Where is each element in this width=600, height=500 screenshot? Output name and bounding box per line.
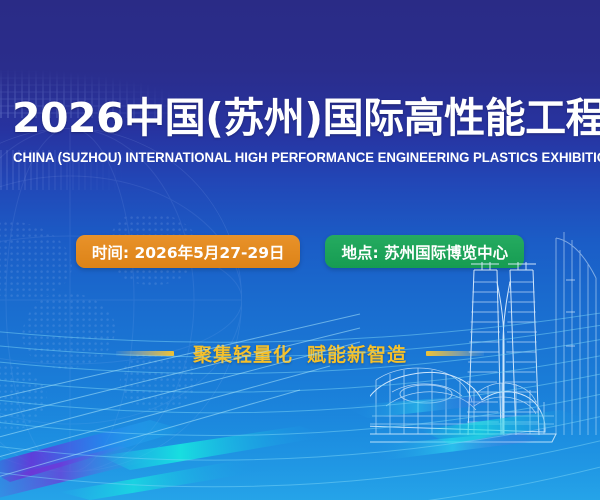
slogan-text: 聚集轻量化赋能新智造 [193,340,407,367]
light-ribbon-icon [0,270,600,500]
slogan-dash-right-icon [426,351,484,356]
slogan-part-1: 聚集轻量化 [193,344,293,366]
badge-venue: 地点: 苏州国际博览中心 [325,235,524,268]
expo-center-dome-icon [370,368,556,442]
info-badges: 时间: 2026年5月27-29日 地点: 苏州国际博览中心 [0,235,600,268]
page-subtitle-english: CHINA (SUZHOU) INTERNATIONAL HIGH PERFOR… [13,150,591,166]
headline-block: 2026中国(苏州)国际高性能工程塑料展览会 CHINA (SUZHOU) IN… [0,92,600,166]
slogan-part-2: 赋能新智造 [307,344,407,366]
badge-date: 时间: 2026年5月27-29日 [76,235,301,268]
page-title: 2026中国(苏州)国际高性能工程塑料展览会 [12,92,600,144]
world-map-globe-icon [0,120,250,480]
exhibition-banner: 2026中国(苏州)国际高性能工程塑料展览会 CHINA (SUZHOU) IN… [0,0,600,500]
slogan-dash-left-icon [116,351,174,356]
slogan-row: 聚集轻量化赋能新智造 [0,340,600,367]
